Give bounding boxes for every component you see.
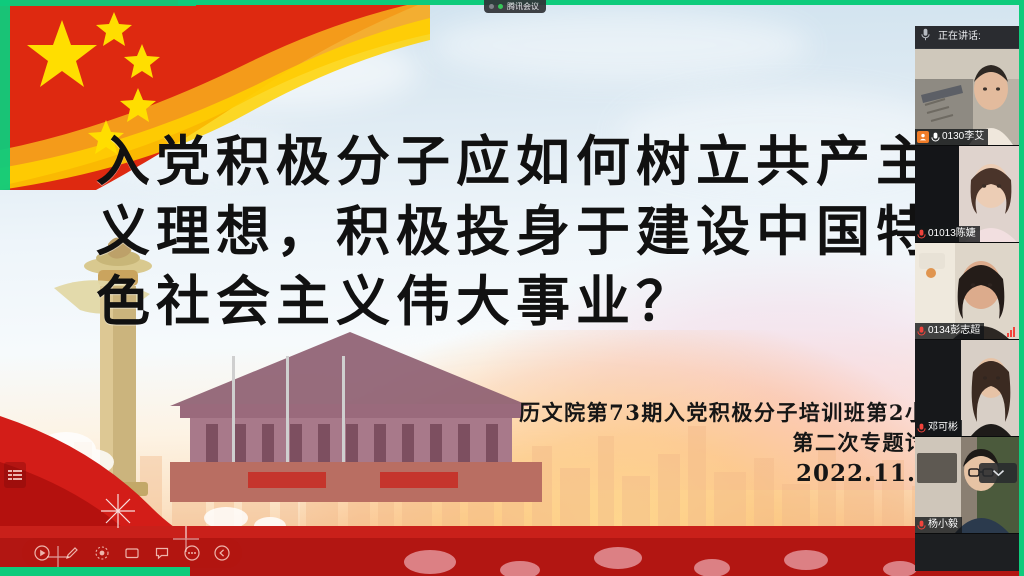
participant-name: 邓可彬: [928, 420, 958, 436]
participant-name-tag: 0130李艾: [915, 129, 988, 145]
slide-date: 2022.11.06: [519, 458, 950, 490]
slide-list-button[interactable]: [4, 462, 26, 488]
host-badge-icon: [917, 131, 929, 143]
participant-name: 0134彭志超: [928, 323, 980, 339]
microphone-icon: [921, 28, 930, 46]
participant-name-tag: 01013陈婕: [915, 226, 980, 242]
participant-name: 杨小毅: [928, 517, 958, 533]
pen-icon[interactable]: [60, 541, 84, 565]
meeting-title-bar[interactable]: 腾讯会议: [484, 0, 546, 13]
slide-subtitle-line: 历文院第73期入党积极分子培训班第2小组: [519, 398, 950, 428]
slide-title-line: 入党积极分子应如何树立共产主: [96, 126, 936, 196]
tencent-meeting-screen: 入党积极分子应如何树立共产主 义理想，积极投身于建设中国特 色社会主义伟大事业？…: [0, 0, 1024, 576]
meeting-title-label: 腾讯会议: [507, 0, 539, 13]
screen-icon[interactable]: [120, 541, 144, 565]
pointer-icon[interactable]: [90, 541, 114, 565]
participant-name: 0130李艾: [942, 129, 984, 145]
participant-filmstrip[interactable]: 正在讲话: 0: [915, 26, 1019, 571]
window-dot-icon: [489, 4, 494, 9]
slide-subtitle-line: 第二次专题讨论: [519, 428, 950, 458]
participant-name-tag: 邓可彬: [915, 420, 962, 436]
mic-off-icon: [917, 423, 926, 434]
speaking-status-bar: 正在讲话:: [915, 26, 1019, 49]
back-icon[interactable]: [210, 541, 234, 565]
slide-title-line: 义理想，积极投身于建设中国特: [96, 196, 936, 266]
cloud-decoration: [430, 10, 810, 80]
speaking-label: 正在讲话:: [938, 26, 981, 48]
slide-title-line: 色社会主义伟大事业？: [96, 266, 936, 336]
mic-off-icon: [931, 132, 940, 143]
slide-title: 入党积极分子应如何树立共产主 义理想，积极投身于建设中国特 色社会主义伟大事业？: [96, 126, 936, 336]
comment-icon[interactable]: [150, 541, 174, 565]
list-icon: [8, 469, 22, 481]
participant-tile[interactable]: 0134彭志超: [915, 243, 1019, 340]
ppt-toolbar[interactable]: [22, 538, 242, 568]
participant-name-tag: 杨小毅: [915, 517, 962, 533]
shared-slide: 入党积极分子应如何树立共产主 义理想，积极投身于建设中国特 色社会主义伟大事业？…: [0, 0, 1024, 576]
mic-off-icon: [917, 326, 926, 337]
participant-tile[interactable]: 0130李艾: [915, 49, 1019, 146]
participant-tile[interactable]: 杨小毅: [915, 437, 1019, 534]
participant-name: 01013陈婕: [928, 226, 976, 242]
recording-status-icon: [498, 4, 503, 9]
participant-name-tag: 0134彭志超: [915, 323, 984, 339]
signal-strength-icon: [1007, 326, 1015, 337]
mic-off-icon: [917, 520, 926, 531]
chevron-down-icon[interactable]: [979, 463, 1017, 483]
more-icon[interactable]: [180, 541, 204, 565]
mic-off-icon: [917, 229, 926, 240]
slide-subtitle: 历文院第73期入党积极分子培训班第2小组 第二次专题讨论 2022.11.06: [519, 398, 950, 490]
play-icon[interactable]: [30, 541, 54, 565]
participant-tile[interactable]: 01013陈婕: [915, 146, 1019, 243]
participant-tile[interactable]: 邓可彬: [915, 340, 1019, 437]
